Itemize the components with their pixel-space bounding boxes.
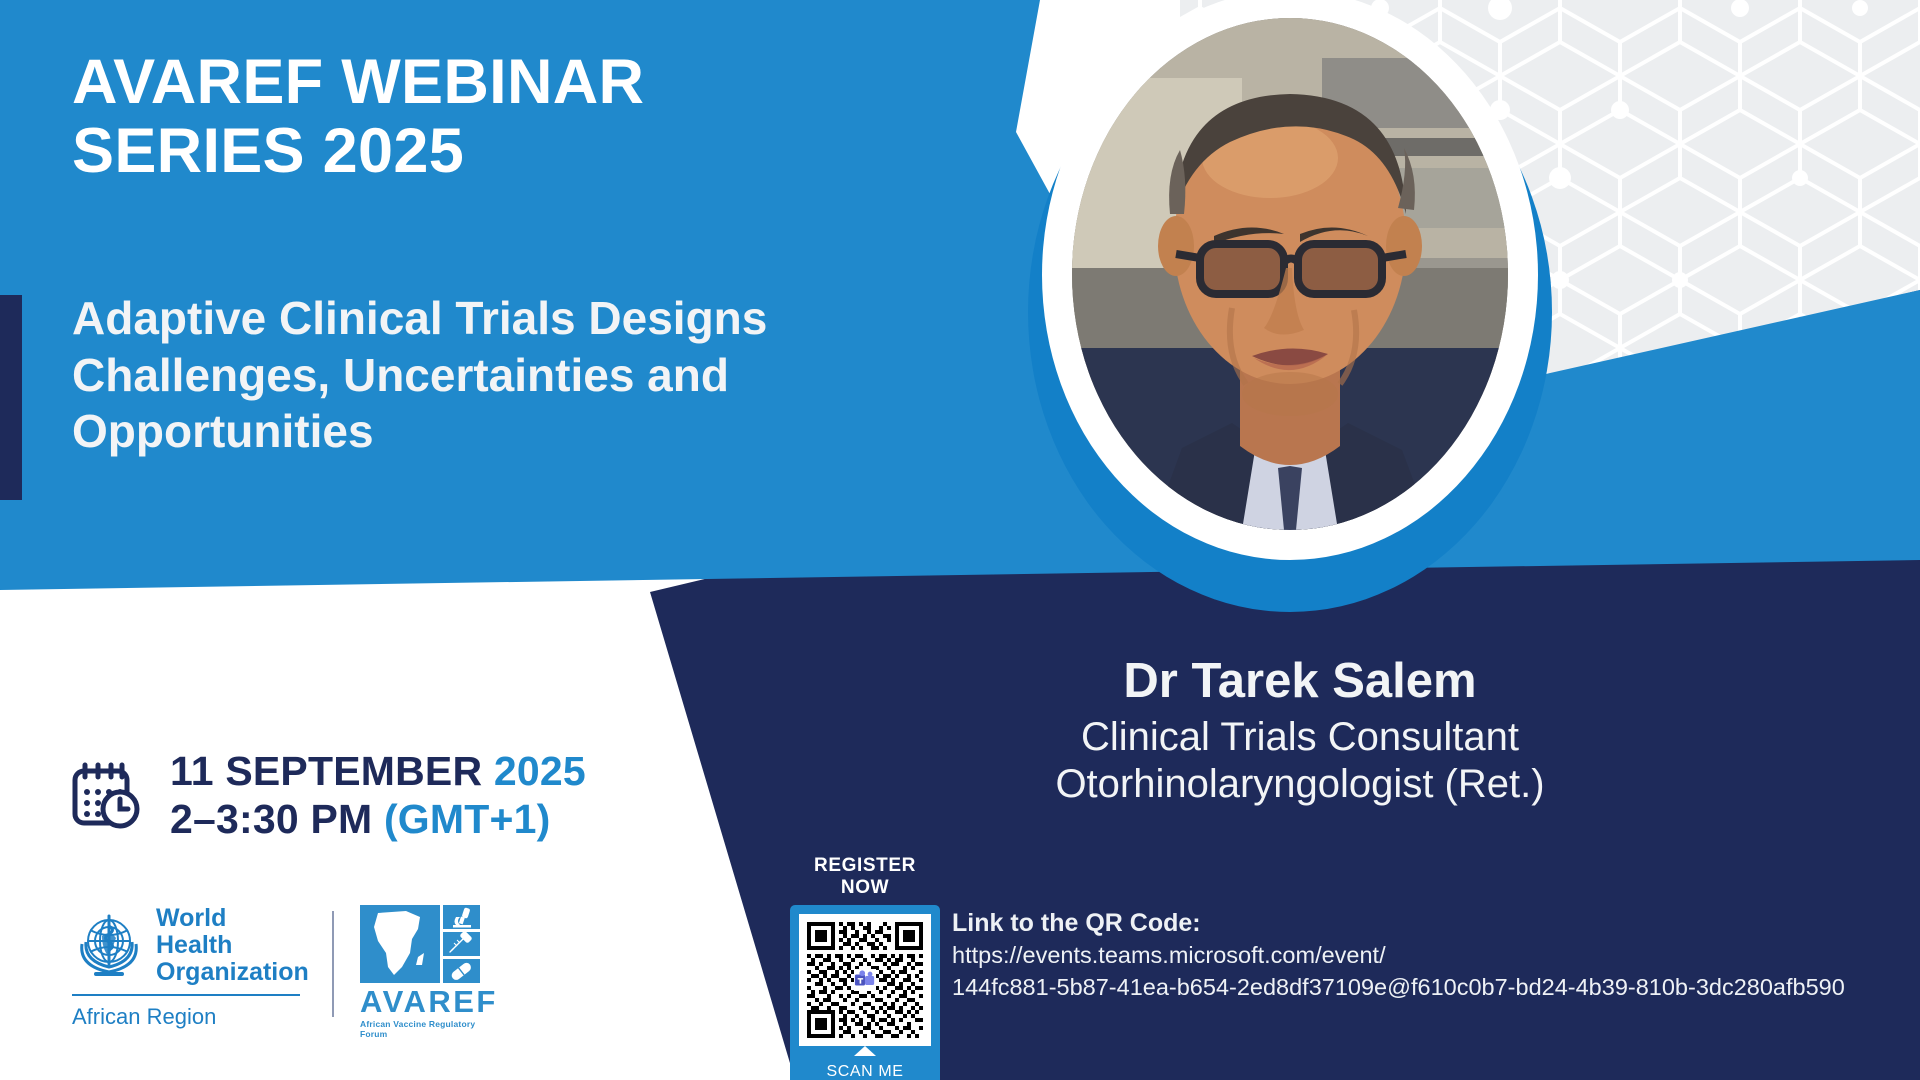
speaker-name: Dr Tarek Salem	[950, 655, 1650, 708]
event-time-line: 2–3:30 PM (GMT+1)	[170, 796, 586, 844]
who-divider	[72, 994, 300, 996]
qr-link-url[interactable]: https://events.teams.microsoft.com/event…	[952, 940, 1845, 1003]
event-datetime: 11 SEPTEMBER 2025 2–3:30 PM (GMT+1)	[70, 748, 586, 843]
who-logo: World Health Organization African Region	[72, 905, 302, 1030]
calendar-clock-icon	[70, 759, 144, 833]
webinar-subtitle: Adaptive Clinical Trials Designs Challen…	[72, 290, 972, 460]
speaker-info: Dr Tarek Salem Clinical Trials Consultan…	[950, 655, 1650, 808]
avaref-logo: AVAREF African Vaccine Regulatory Forum	[360, 905, 480, 1039]
datetime-text: 11 SEPTEMBER 2025 2–3:30 PM (GMT+1)	[170, 748, 586, 843]
qr-link-title: Link to the QR Code:	[952, 908, 1845, 938]
logo-row: World Health Organization African Region	[72, 905, 480, 1039]
who-name-line-2: Organization	[156, 959, 309, 986]
who-name-line-1: World Health	[156, 905, 309, 959]
registration-qr-block[interactable]: REGISTER NOW	[790, 855, 940, 1080]
speaker-portrait	[1072, 18, 1508, 530]
navy-accent-bar	[0, 295, 22, 500]
qr-card[interactable]: SCAN ME	[790, 905, 940, 1080]
event-timezone: (GMT+1)	[384, 796, 551, 842]
africa-map-icon	[360, 905, 440, 983]
event-date-line: 11 SEPTEMBER 2025	[170, 748, 586, 796]
speaker-role-line-1: Clinical Trials Consultant	[950, 714, 1650, 761]
microsoft-teams-icon	[854, 969, 876, 991]
subtitle-line-1: Adaptive Clinical Trials Designs	[72, 290, 972, 347]
who-region-label: African Region	[72, 1004, 302, 1030]
webinar-poster: AVAREF WEBINAR SERIES 2025 Adaptive Clin…	[0, 0, 1920, 1080]
syringe-icon	[443, 932, 480, 956]
qr-link-url-line-1: https://events.teams.microsoft.com/event…	[952, 940, 1845, 972]
event-date-day: 11 SEPTEMBER	[170, 748, 494, 794]
qr-notch	[854, 1046, 876, 1056]
subtitle-line-3: Opportunities	[72, 403, 972, 460]
register-now-label: REGISTER NOW	[790, 855, 940, 899]
title-line-2: SERIES 2025	[72, 117, 832, 186]
qr-link-url-line-2: 144fc881-5b87-41ea-b654-2ed8df37109e@f61…	[952, 972, 1845, 1004]
scan-me-label: SCAN ME	[799, 1056, 931, 1080]
who-emblem-icon	[72, 908, 146, 982]
who-wordmark: World Health Organization	[156, 905, 309, 985]
title-line-1: AVAREF WEBINAR	[72, 47, 644, 117]
qr-code[interactable]	[799, 914, 931, 1046]
speaker-role: Clinical Trials Consultant Otorhinolaryn…	[950, 714, 1650, 808]
qr-link-block: Link to the QR Code: https://events.team…	[952, 908, 1845, 1003]
pill-icon	[443, 959, 480, 983]
event-date-year: 2025	[494, 748, 586, 794]
avaref-wordmark: AVAREF	[360, 986, 480, 1017]
speaker-photo-group	[1020, 0, 1560, 630]
avaref-tagline: African Vaccine Regulatory Forum	[360, 1019, 480, 1039]
subtitle-line-2: Challenges, Uncertainties and	[72, 347, 972, 404]
event-time: 2–3:30 PM	[170, 796, 384, 842]
logo-separator	[332, 911, 334, 1017]
microscope-icon	[443, 905, 480, 929]
page-title: AVAREF WEBINAR SERIES 2025	[72, 48, 832, 185]
speaker-role-line-2: Otorhinolaryngologist (Ret.)	[950, 761, 1650, 808]
